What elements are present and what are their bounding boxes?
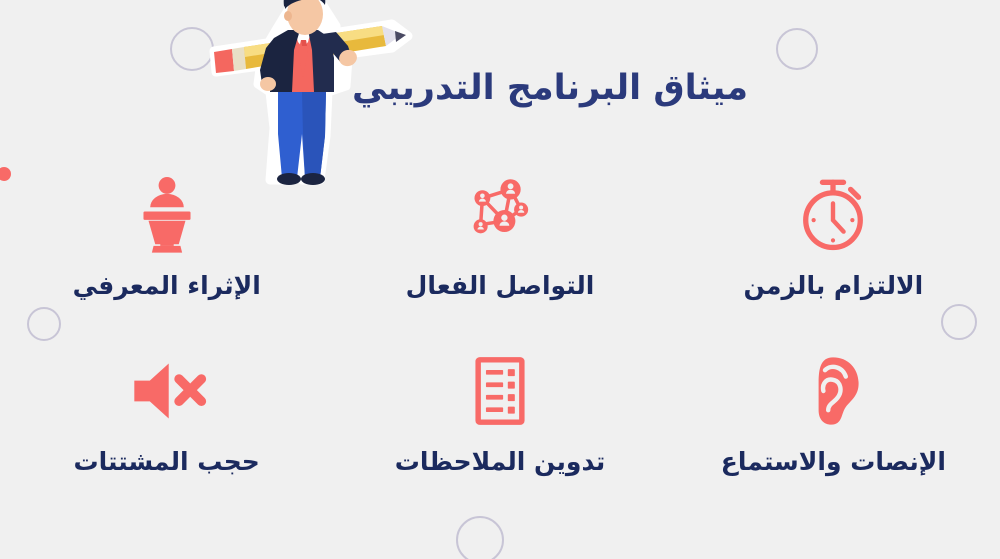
charter-item-label: الالتزام بالزمن bbox=[744, 272, 924, 300]
charter-item-label: الإنصات والاستماع bbox=[721, 448, 946, 476]
notepad-checklist-icon bbox=[454, 348, 546, 434]
charter-item-note-taking[interactable]: تدوين الملاحظات bbox=[333, 340, 666, 520]
charter-item-label: حجب المشتتات bbox=[74, 448, 260, 476]
ear-listening-icon bbox=[787, 348, 879, 434]
decor-circle-top-right bbox=[776, 28, 818, 70]
training-charter-poster: ميثاق البرنامج التدريبي bbox=[0, 0, 1000, 559]
charter-item-effective-communication[interactable]: التواصل الفعال bbox=[333, 160, 666, 340]
people-network-icon bbox=[454, 168, 546, 260]
charter-item-label: الإثراء المعرفي bbox=[73, 272, 261, 300]
decor-circle-bottom bbox=[456, 516, 504, 559]
charter-item-knowledge-enrichment[interactable]: الإثراء المعرفي bbox=[0, 160, 333, 340]
charter-items-grid: الالتزام بالزمن bbox=[0, 160, 1000, 520]
charter-item-label: التواصل الفعال bbox=[406, 272, 595, 300]
podium-speaker-icon bbox=[121, 168, 213, 260]
charter-item-label: تدوين الملاحظات bbox=[395, 448, 606, 476]
stopwatch-icon bbox=[787, 168, 879, 260]
page-title: ميثاق البرنامج التدريبي bbox=[340, 68, 760, 108]
charter-item-block-distractions[interactable]: حجب المشتتات bbox=[0, 340, 333, 520]
charter-item-time-commitment[interactable]: الالتزام بالزمن bbox=[667, 160, 1000, 340]
charter-item-listening-attention[interactable]: الإنصات والاستماع bbox=[667, 340, 1000, 520]
speaker-mute-icon bbox=[121, 348, 213, 434]
